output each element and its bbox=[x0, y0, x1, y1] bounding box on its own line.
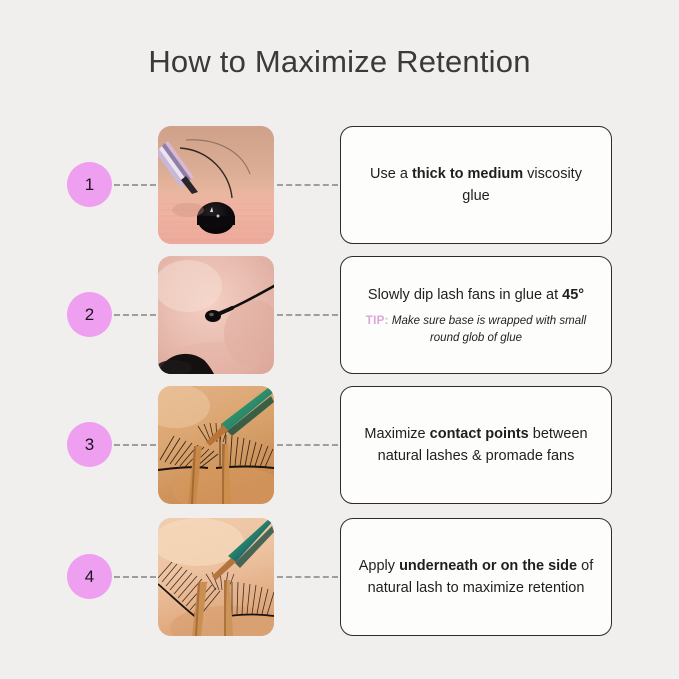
connector-dashed-right-3 bbox=[277, 444, 338, 446]
connector-dashed-right-2 bbox=[277, 314, 338, 316]
card-text-emphasis: underneath or on the side bbox=[399, 558, 577, 574]
step-card-tip-2: TIP: Make sure base is wrapped with smal… bbox=[355, 313, 597, 346]
card-text-emphasis: contact points bbox=[430, 426, 529, 442]
step-card-text-4: Apply underneath or on the side of natur… bbox=[355, 555, 597, 599]
step-card-2: Slowly dip lash fans in glue at 45° TIP:… bbox=[340, 256, 612, 374]
card-text-segment: Use a bbox=[370, 166, 412, 182]
step-card-text-2: Slowly dip lash fans in glue at 45° bbox=[368, 284, 584, 306]
step-number-label: 2 bbox=[85, 305, 94, 325]
card-text-emphasis: thick to medium bbox=[412, 166, 523, 182]
card-text-emphasis: 45° bbox=[562, 287, 584, 303]
connector-dashed-left-1 bbox=[114, 184, 156, 186]
tip-text: Make sure base is wrapped with small rou… bbox=[392, 315, 586, 343]
step-number-badge-3: 3 bbox=[67, 422, 112, 467]
step-photo-1 bbox=[158, 126, 274, 244]
step-number-label: 1 bbox=[85, 175, 94, 195]
card-text-segment: Maximize bbox=[364, 426, 429, 442]
step-card-4: Apply underneath or on the side of natur… bbox=[340, 518, 612, 636]
step-number-label: 3 bbox=[85, 435, 94, 455]
step-card-text-3: Maximize contact points between natural … bbox=[355, 423, 597, 467]
step-number-label: 4 bbox=[85, 567, 94, 587]
step-row-1: 1 bbox=[0, 126, 679, 244]
connector-dashed-right-4 bbox=[277, 576, 338, 578]
connector-dashed-right-1 bbox=[277, 184, 338, 186]
step-row-3: 3 bbox=[0, 386, 679, 504]
connector-dashed-left-3 bbox=[114, 444, 156, 446]
step-number-badge-4: 4 bbox=[67, 554, 112, 599]
step-card-text-1: Use a thick to medium viscosity glue bbox=[355, 163, 597, 207]
step-photo-3 bbox=[158, 386, 274, 504]
step-number-badge-1: 1 bbox=[67, 162, 112, 207]
step-card-1: Use a thick to medium viscosity glue bbox=[340, 126, 612, 244]
page-title: How to Maximize Retention bbox=[0, 44, 679, 80]
card-text-segment: Apply bbox=[359, 558, 399, 574]
card-text-segment: Slowly dip lash fans in glue at bbox=[368, 287, 562, 303]
step-row-2: 2 bbox=[0, 256, 679, 374]
step-photo-4 bbox=[158, 518, 274, 636]
step-card-3: Maximize contact points between natural … bbox=[340, 386, 612, 504]
tip-label: TIP: bbox=[366, 315, 389, 327]
step-row-4: 4 bbox=[0, 518, 679, 636]
infographic-page: How to Maximize Retention 1 bbox=[0, 0, 679, 679]
connector-dashed-left-4 bbox=[114, 576, 156, 578]
step-number-badge-2: 2 bbox=[67, 292, 112, 337]
connector-dashed-left-2 bbox=[114, 314, 156, 316]
step-photo-2 bbox=[158, 256, 274, 374]
